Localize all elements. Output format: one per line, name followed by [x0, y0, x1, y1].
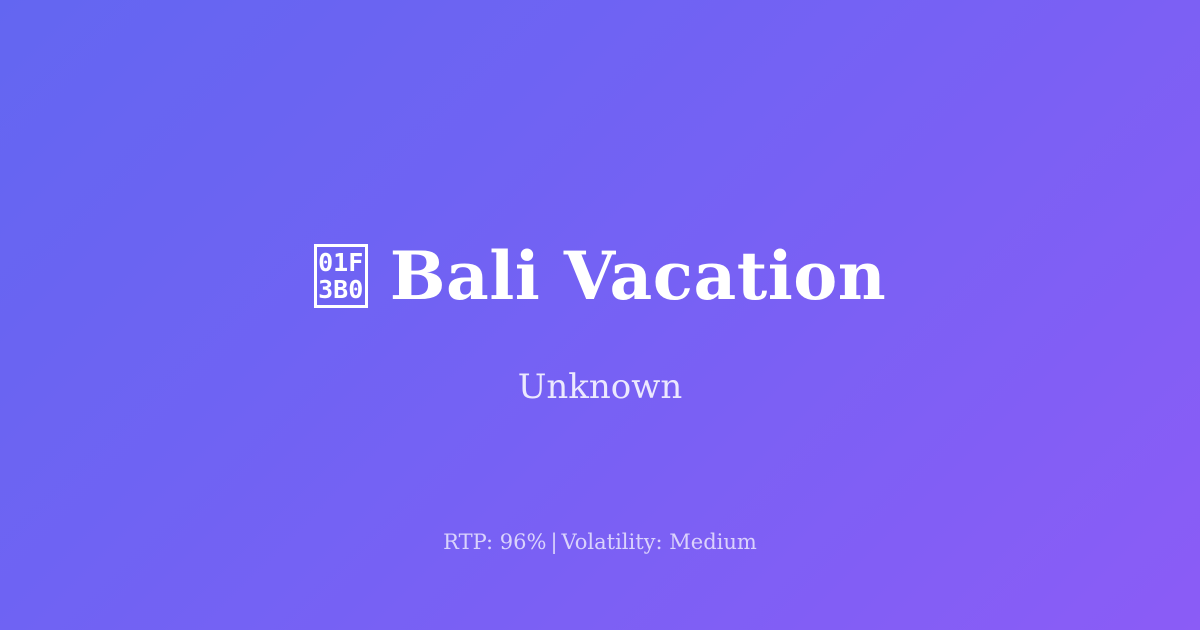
rtp-value: RTP: 96% [443, 530, 546, 554]
volatility-value: Volatility: Medium [562, 530, 757, 554]
slot-machine-icon: 01F 3B0 [314, 244, 368, 308]
slot-machine-icon-codepoint-bottom: 3B0 [318, 276, 363, 303]
stats-separator: | [546, 530, 561, 554]
stats-line: RTP: 96%|Volatility: Medium [0, 528, 1200, 556]
page-title: Bali Vacation [390, 243, 887, 309]
page-subtitle: Unknown [0, 366, 1200, 408]
slot-machine-icon-codepoint-top: 01F [318, 249, 363, 276]
og-share-card: 01F 3B0 Bali Vacation Unknown RTP: 96%|V… [0, 0, 1200, 630]
title-row: 01F 3B0 Bali Vacation [0, 232, 1200, 320]
